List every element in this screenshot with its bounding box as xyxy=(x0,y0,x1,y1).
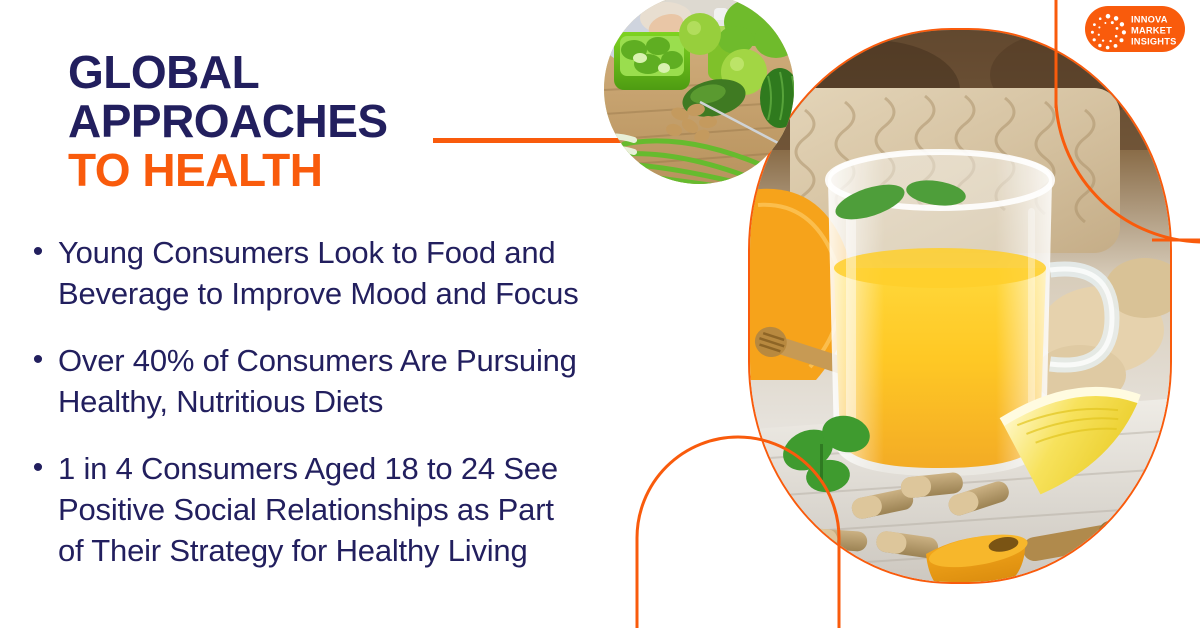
green-vegetables-lunchbox-photo xyxy=(604,0,794,184)
bullet-line: Young Consumers Look to Food and xyxy=(58,232,579,273)
bullet-line: 1 in 4 Consumers Aged 18 to 24 See xyxy=(58,448,558,489)
bullet-line: Beverage to Improve Mood and Focus xyxy=(58,273,579,314)
list-item: • Young Consumers Look to Food and Bever… xyxy=(18,232,673,314)
logo-line-1: INNOVA xyxy=(1131,15,1168,25)
logo-line-2: MARKET xyxy=(1131,26,1172,36)
bullet-marker-icon: • xyxy=(18,448,58,488)
bullet-marker-icon: • xyxy=(18,340,58,380)
turmeric-ginger-drink-photo xyxy=(750,30,1170,582)
main-photo xyxy=(748,28,1172,584)
logo-line-3: INSIGHTS xyxy=(1131,37,1177,47)
infographic-canvas: GLOBAL APPROACHES TO HEALTH • Young Cons… xyxy=(0,0,1200,628)
title-line-3: TO HEALTH xyxy=(68,146,498,195)
inset-photo xyxy=(604,0,794,184)
bullet-line: Positive Social Relationships as Part xyxy=(58,489,558,530)
bullet-marker-icon: • xyxy=(18,232,58,272)
innova-market-insights-logo[interactable]: INNOVA MARKET INSIGHTS xyxy=(1085,6,1185,52)
bullet-list: • Young Consumers Look to Food and Bever… xyxy=(18,232,673,571)
list-item: • 1 in 4 Consumers Aged 18 to 24 See Pos… xyxy=(18,448,673,571)
title-line-2: APPROACHES xyxy=(68,97,498,146)
bullet-line: Over 40% of Consumers Are Pursuing xyxy=(58,340,577,381)
list-item: • Over 40% of Consumers Are Pursuing Hea… xyxy=(18,340,673,422)
bullet-line: of Their Strategy for Healthy Living xyxy=(58,530,558,571)
bullet-social-relationships: 1 in 4 Consumers Aged 18 to 24 See Posit… xyxy=(58,448,558,571)
logo-svg: INNOVA MARKET INSIGHTS xyxy=(1085,6,1185,52)
page-title: GLOBAL APPROACHES TO HEALTH xyxy=(68,48,498,196)
title-line-1: GLOBAL xyxy=(68,48,498,97)
bullet-healthy-diets: Over 40% of Consumers Are Pursuing Healt… xyxy=(58,340,577,422)
bullet-mood-focus: Young Consumers Look to Food and Beverag… xyxy=(58,232,579,314)
bullet-line: Healthy, Nutritious Diets xyxy=(58,381,577,422)
